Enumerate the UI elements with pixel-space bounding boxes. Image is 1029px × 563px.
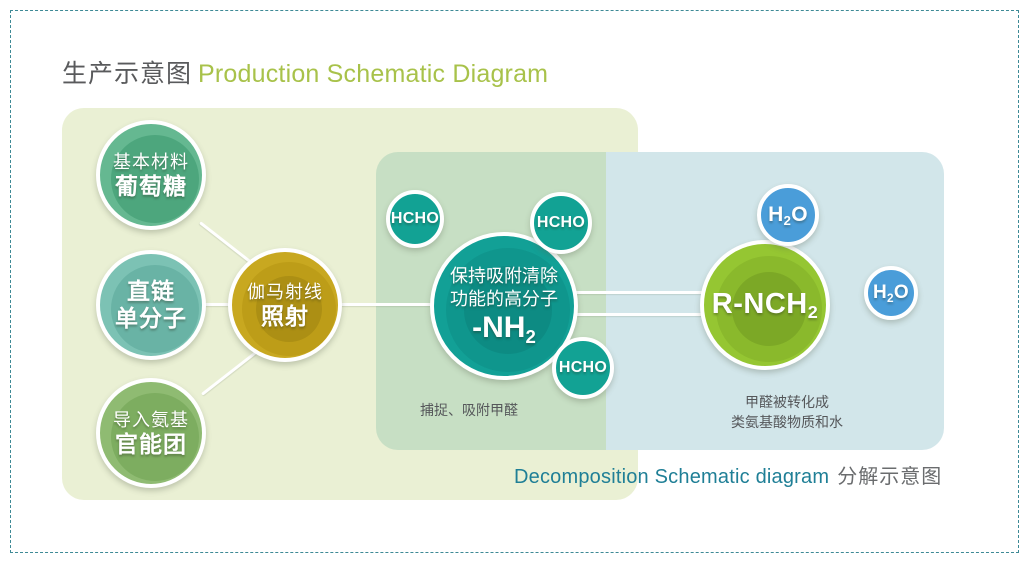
molecule-h2o-1-label: H2O [768, 203, 808, 227]
footer-label-cn: 分解示意图 [837, 466, 942, 488]
connector-gamma-polymer [340, 303, 436, 306]
molecule-hcho-3[interactable]: HCHO [552, 337, 614, 399]
product-formula-text: R-NCH [712, 288, 808, 320]
amino-group-label-line1: 导入氨基 [113, 409, 189, 431]
molecule-h2o-2-label: H2O [873, 282, 909, 304]
gamma-ray-label-line1: 伽马射线 [247, 281, 323, 303]
node-linear-monomer[interactable]: 直链 单分子 [96, 250, 206, 360]
glucose-label-line2: 葡萄糖 [115, 173, 187, 200]
node-amino-group[interactable]: 导入氨基 官能团 [96, 378, 206, 488]
molecule-h2o-2-h: H [873, 282, 887, 303]
polymer-formula-text: -NH [472, 311, 525, 344]
page-title: 生产示意图Production Schematic Diagram [62, 58, 548, 90]
node-product-rnch2[interactable]: R-NCH2 [700, 240, 830, 370]
product-formula: R-NCH2 [712, 288, 818, 323]
gamma-ray-label-line2: 照射 [261, 303, 309, 330]
footer-label: Decomposition Schematic diagram分解示意图 [514, 464, 942, 490]
molecule-h2o-1-h: H [768, 203, 783, 226]
footer-label-en: Decomposition Schematic diagram [514, 466, 829, 488]
molecule-hcho-3-label: HCHO [559, 359, 607, 377]
molecule-hcho-2[interactable]: HCHO [530, 192, 592, 254]
molecule-h2o-1-sub: 2 [784, 213, 792, 228]
node-gamma-ray[interactable]: 伽马射线 照射 [228, 248, 342, 362]
glucose-label-line1: 基本材料 [113, 151, 189, 173]
molecule-hcho-2-label: HCHO [537, 214, 585, 232]
linear-monomer-label-line2: 单分子 [115, 305, 187, 332]
connector-polymer-product-upper [572, 291, 708, 294]
caption-convert: 甲醛被转化成 类氨基酸物质和水 [672, 392, 902, 432]
polymer-formula: -NH2 [472, 311, 536, 347]
product-formula-subscript: 2 [808, 302, 819, 322]
molecule-hcho-1[interactable]: HCHO [386, 190, 444, 248]
molecule-h2o-2-sub: 2 [887, 292, 894, 305]
page-title-cn: 生产示意图 [62, 60, 192, 88]
linear-monomer-label-line1: 直链 [127, 278, 175, 305]
page-title-en: Production Schematic Diagram [198, 60, 548, 88]
caption-capture: 捕捉、吸附甲醛 [420, 400, 610, 420]
connector-polymer-product-lower [572, 313, 708, 316]
polymer-label-line2: 功能的高分子 [450, 288, 558, 311]
molecule-h2o-1-o: O [791, 203, 808, 226]
amino-group-label-line2: 官能团 [115, 431, 187, 458]
polymer-label-line1: 保持吸附清除 [450, 265, 558, 288]
polymer-formula-subscript: 2 [525, 326, 535, 347]
molecule-h2o-2[interactable]: H2O [864, 266, 918, 320]
molecule-hcho-1-label: HCHO [391, 210, 439, 228]
node-glucose[interactable]: 基本材料 葡萄糖 [96, 120, 206, 230]
molecule-h2o-1[interactable]: H2O [757, 184, 819, 246]
molecule-h2o-2-o: O [894, 282, 909, 303]
